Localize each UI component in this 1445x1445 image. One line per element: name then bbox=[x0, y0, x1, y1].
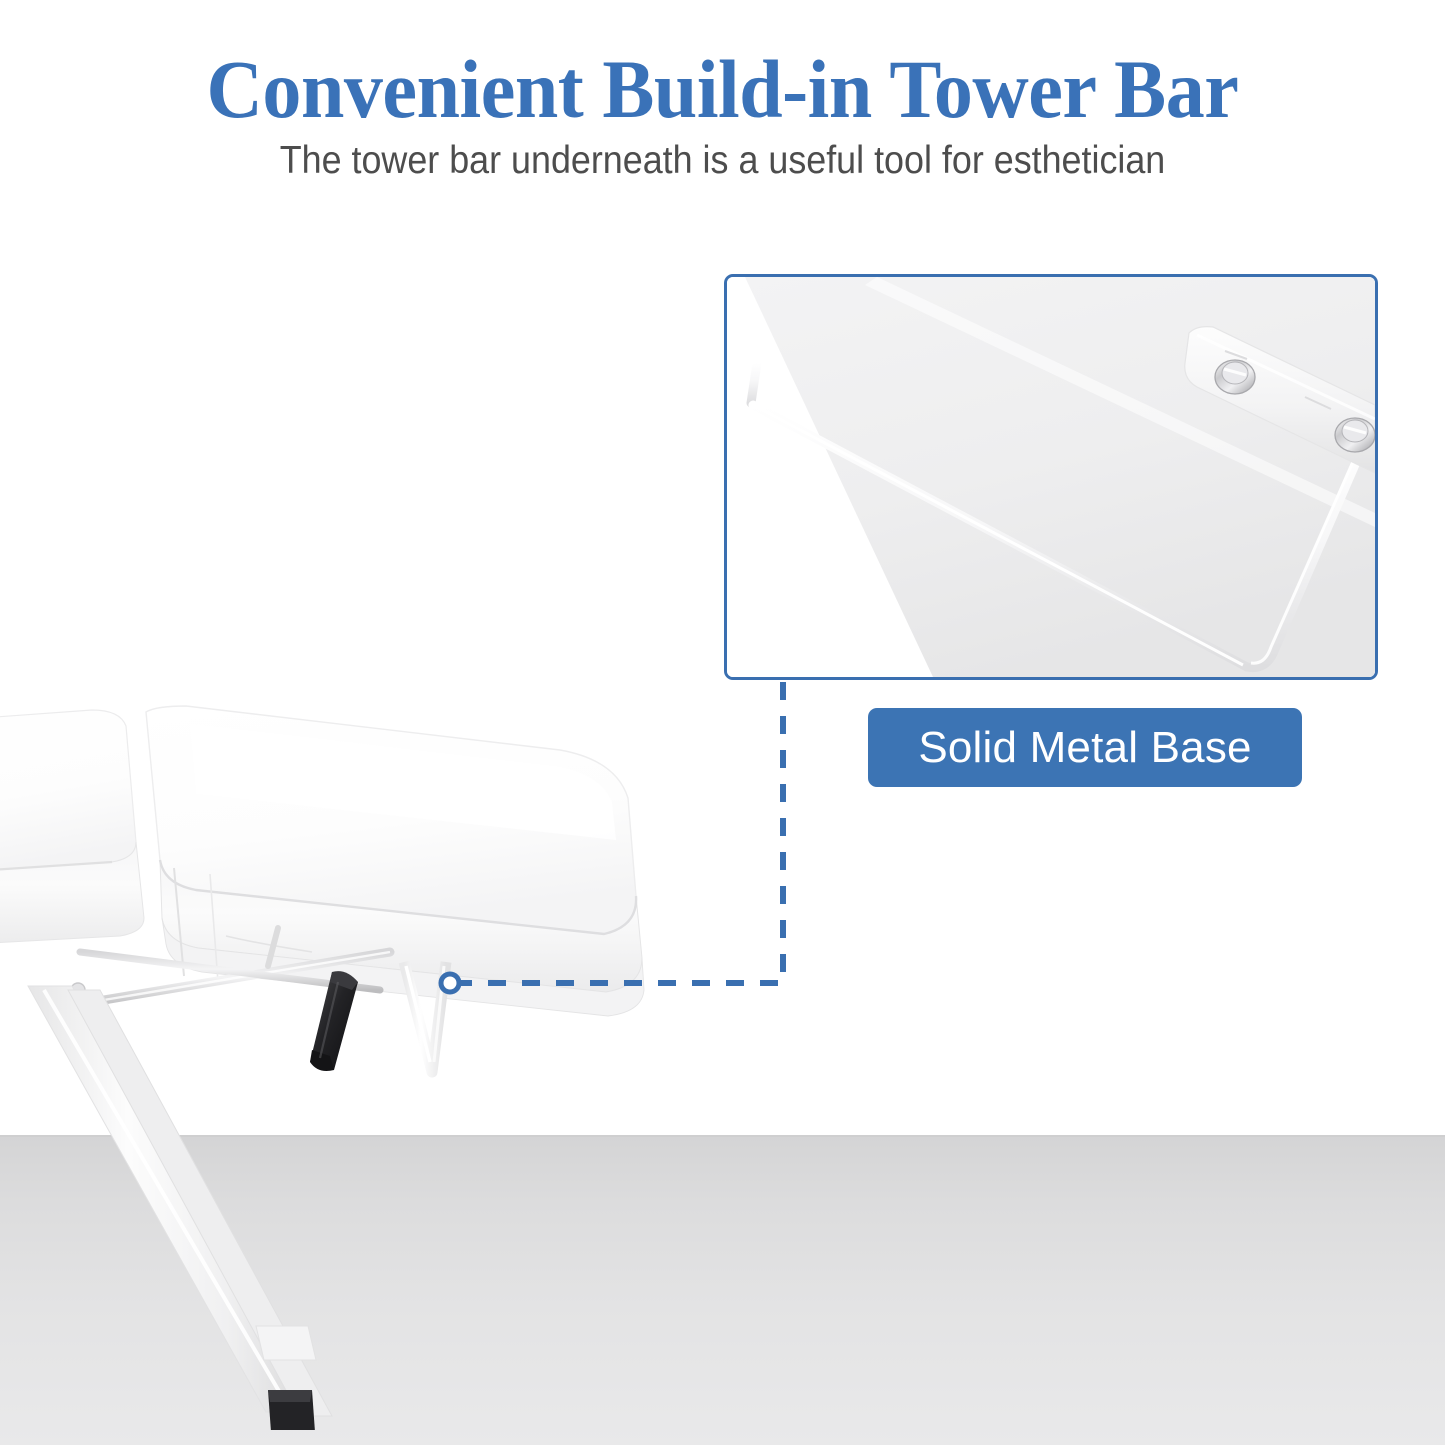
chrome-hex-bolt bbox=[1215, 360, 1255, 394]
promo-image-canvas: Convenient Build-in Tower Bar The tower … bbox=[0, 0, 1445, 1445]
callout-badge-solid-metal-base: Solid Metal Base bbox=[868, 708, 1302, 787]
callout-badge-label: Solid Metal Base bbox=[918, 726, 1251, 770]
detail-panel-tower-bar-closeup bbox=[724, 274, 1378, 680]
product-photo-massage-table bbox=[0, 690, 680, 1430]
page-title: Convenient Build-in Tower Bar bbox=[43, 48, 1401, 131]
page-subtitle: The tower bar underneath is a useful too… bbox=[58, 141, 1387, 180]
chrome-hex-bolt bbox=[1335, 418, 1375, 452]
tower-bar-closeup-icon bbox=[727, 277, 1375, 677]
white-metal-leg-frame bbox=[28, 986, 332, 1430]
headrest-cushion bbox=[0, 710, 144, 948]
black-adjustment-lever bbox=[310, 971, 358, 1071]
